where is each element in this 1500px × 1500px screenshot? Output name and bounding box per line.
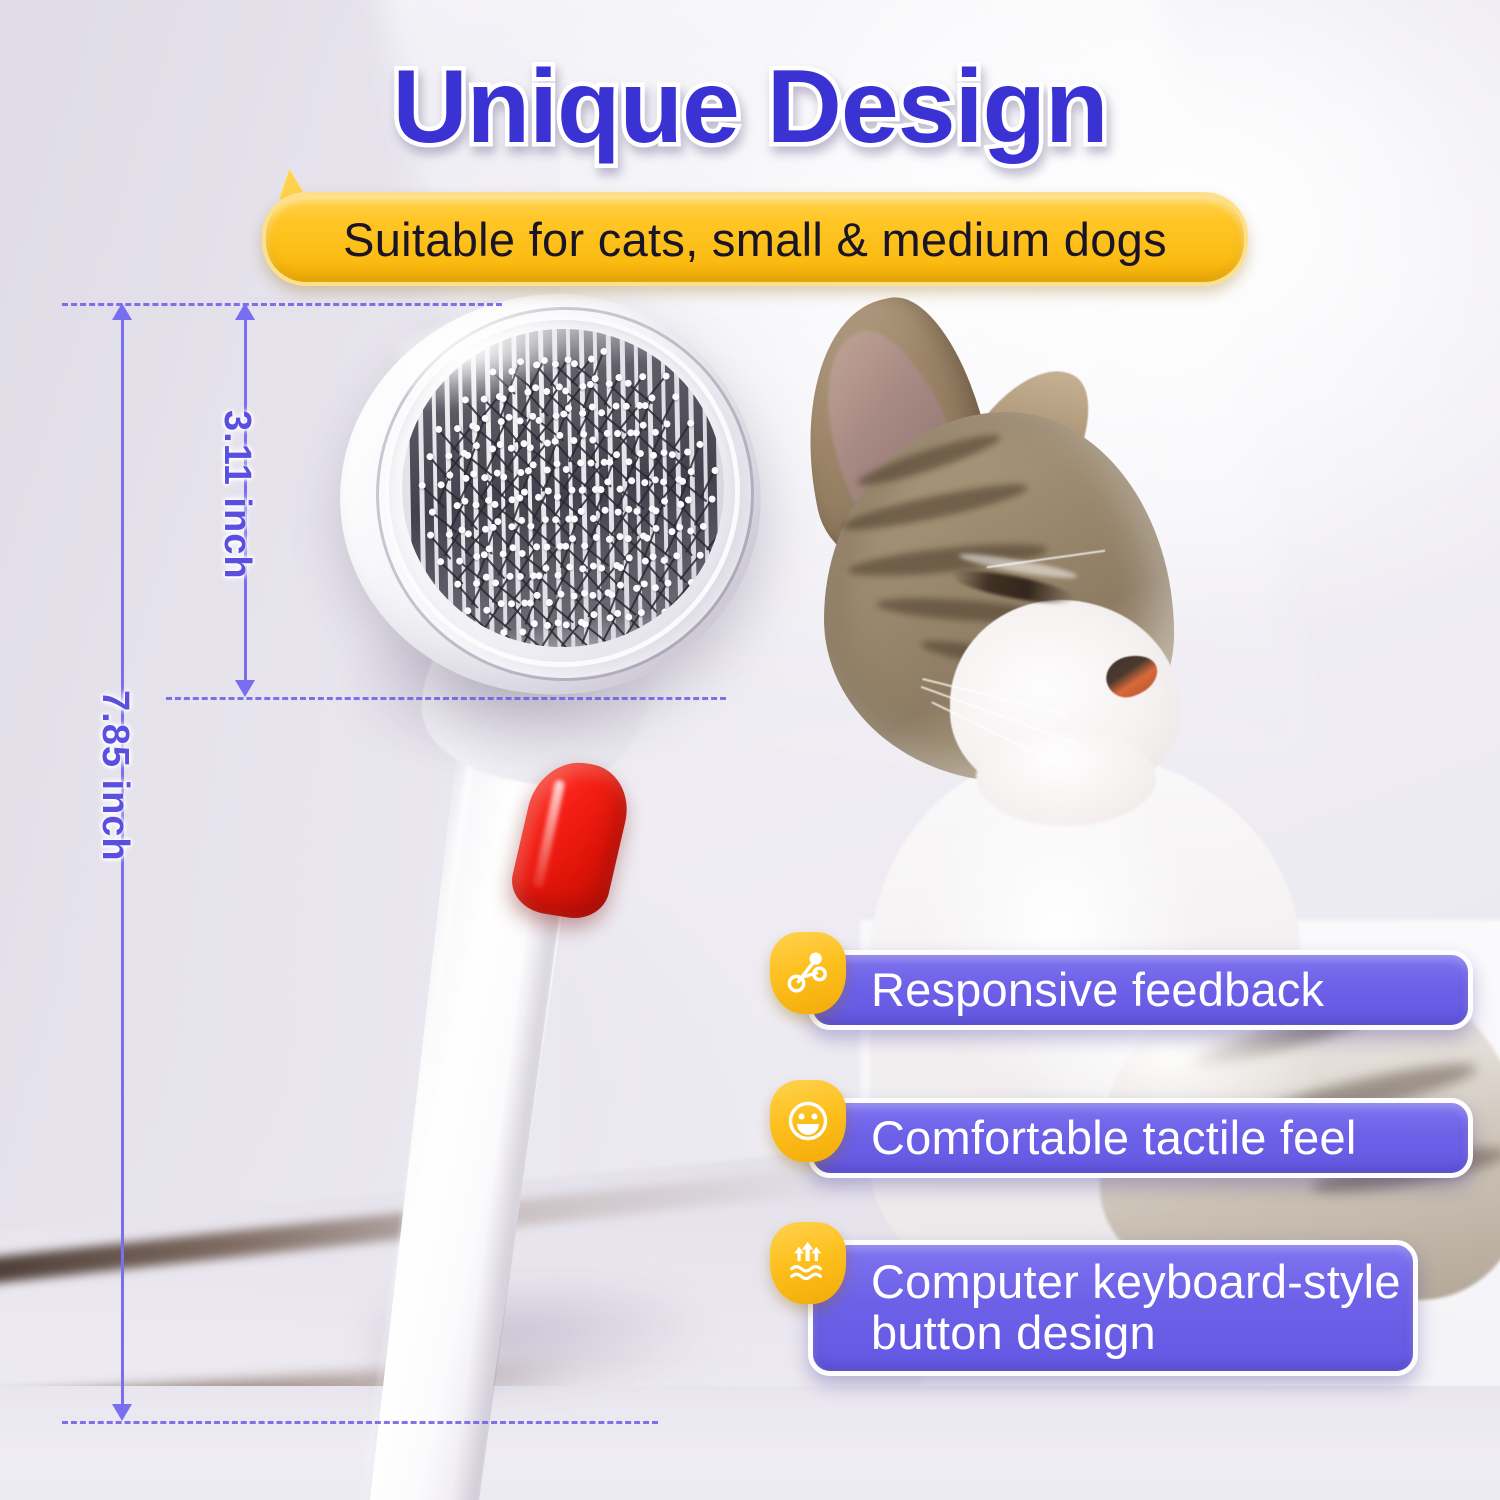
feature-label: Responsive feedback	[813, 965, 1324, 1016]
suitability-banner: Suitable for cats, small & medium dogs	[262, 192, 1248, 286]
feature-pill: Comfortable tactile feel	[808, 1098, 1473, 1178]
brush-head	[340, 295, 760, 705]
dimension-label-total-length: 7.85 inch	[93, 690, 136, 862]
feature-pill: Computer keyboard-style button design	[808, 1240, 1418, 1376]
dimension-bar-total-length	[121, 312, 124, 1412]
guide-line-bottom	[62, 1421, 658, 1424]
feature-label: Comfortable tactile feel	[813, 1113, 1356, 1164]
share-nodes-icon	[770, 932, 846, 1014]
dimension-arrow-down	[112, 1404, 132, 1421]
product-infographic: 3.11 inch 7.85 inch Unique Design Suitab…	[0, 0, 1500, 1500]
feature-pill: Responsive feedback	[808, 950, 1473, 1030]
page-title: Unique Design	[0, 48, 1500, 167]
dimension-arrow-down	[235, 680, 255, 697]
suitability-banner-label: Suitable for cats, small & medium dogs	[343, 212, 1167, 267]
dimension-label-head-height: 3.11 inch	[215, 410, 258, 580]
product-brush	[300, 295, 820, 1435]
smiley-face-icon	[770, 1080, 846, 1162]
dimension-arrow-up	[235, 303, 255, 320]
dimension-arrow-up	[112, 303, 132, 320]
airflow-waves-icon	[770, 1222, 846, 1304]
cat-head	[800, 300, 1230, 820]
guide-line-middle	[166, 697, 726, 700]
cat-chin	[976, 730, 1156, 826]
feature-label: Computer keyboard-style button design	[813, 1257, 1401, 1359]
